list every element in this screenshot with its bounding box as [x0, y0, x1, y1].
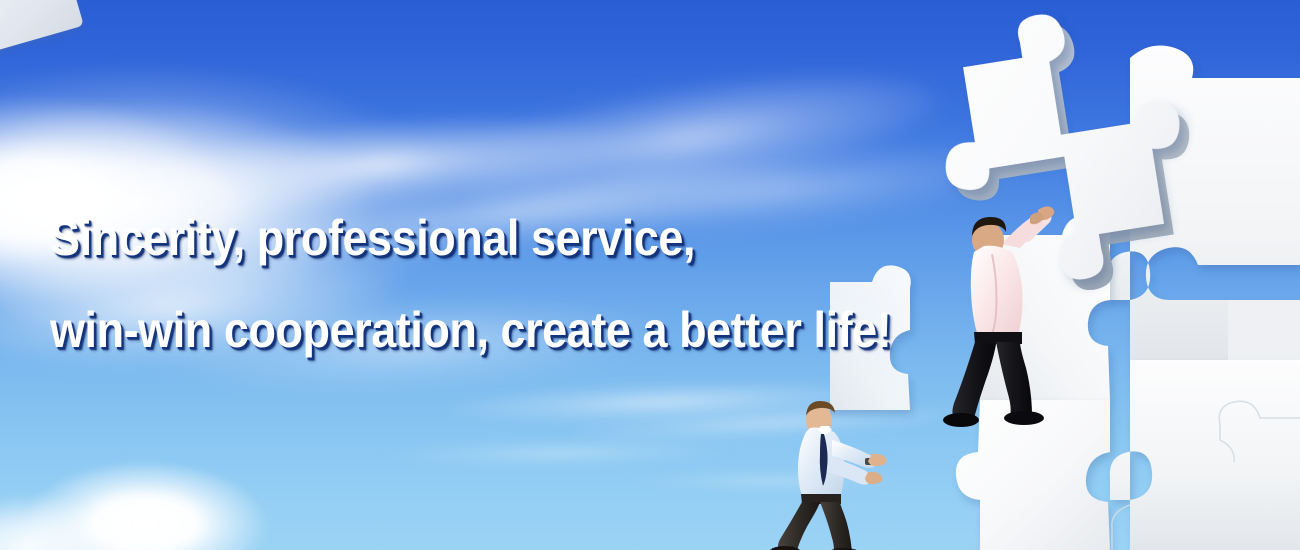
headline-line-1: Sincerity, professional service, [50, 192, 891, 284]
leg-front [820, 502, 852, 550]
corner-puzzle-sliver [0, 0, 84, 56]
headline-line-2: win-win cooperation, create a better lif… [50, 284, 891, 376]
leg-back [778, 502, 820, 550]
cloud-cirrus-3 [380, 437, 740, 469]
leg-front [996, 342, 1032, 416]
hero-banner: Sincerity, professional service, win-win… [0, 0, 1300, 550]
businessman-pushing [770, 398, 900, 550]
shoe-front [1004, 411, 1044, 425]
cloud-cumulus-bottom [20, 464, 270, 550]
headline-block: Sincerity, professional service, win-win… [50, 192, 985, 376]
hand-lower [865, 472, 882, 484]
cloud-cumulus-bottom-2 [0, 494, 130, 550]
shoe-back [943, 413, 979, 427]
